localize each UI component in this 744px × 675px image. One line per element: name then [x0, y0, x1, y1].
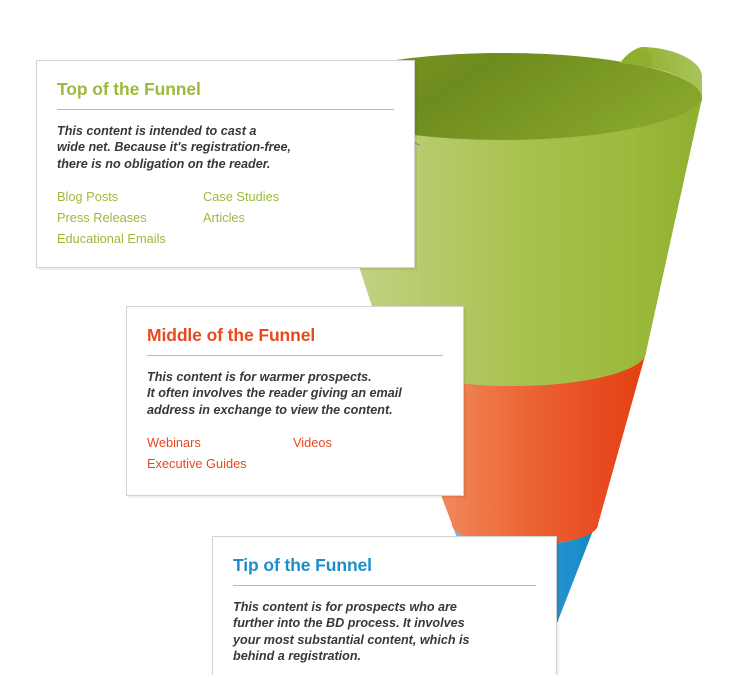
- content-tag-spacer: [203, 230, 394, 248]
- content-tag-executive-guides[interactable]: Executive Guides: [147, 455, 293, 473]
- desc-line: It often involves the reader giving an e…: [147, 385, 443, 401]
- callout-title-top: Top of the Funnel: [57, 79, 394, 100]
- content-type-list-middle: Webinars Videos Executive Guides: [147, 434, 443, 473]
- callout-card-tip-of-funnel: Tip of the Funnel This content is for pr…: [212, 536, 557, 675]
- content-tag-videos[interactable]: Videos: [293, 434, 443, 452]
- desc-line: your most substantial content, which is: [233, 632, 536, 648]
- content-tag-educational-emails[interactable]: Educational Emails: [57, 230, 203, 248]
- content-tag-blog-posts[interactable]: Blog Posts: [57, 188, 203, 206]
- callout-card-top-of-funnel: Top of the Funnel This content is intend…: [36, 60, 415, 268]
- callout-description-top: This content is intended to cast a wide …: [57, 123, 394, 172]
- callout-inner: Tip of the Funnel This content is for pr…: [213, 537, 556, 675]
- callout-description-middle: This content is for warmer prospects. It…: [147, 369, 443, 418]
- content-tag-spacer: [293, 455, 443, 473]
- content-tag-articles[interactable]: Articles: [203, 209, 394, 227]
- callout-inner: Top of the Funnel This content is intend…: [37, 61, 414, 264]
- callout-card-middle-of-funnel: Middle of the Funnel This content is for…: [126, 306, 464, 496]
- desc-line: address in exchange to view the content.: [147, 402, 443, 418]
- desc-line: This content is intended to cast a: [57, 123, 394, 139]
- infographic-canvas: Top of the Funnel This content is intend…: [0, 0, 744, 675]
- desc-line: further into the BD process. It involves: [233, 615, 536, 631]
- desc-line: there is no obligation on the reader.: [57, 156, 394, 172]
- desc-line: This content is for warmer prospects.: [147, 369, 443, 385]
- callout-divider: [57, 109, 394, 110]
- callout-divider: [233, 585, 536, 586]
- callout-title-middle: Middle of the Funnel: [147, 325, 443, 346]
- desc-line: wide net. Because it's registration-free…: [57, 139, 394, 155]
- callout-title-tip: Tip of the Funnel: [233, 555, 536, 576]
- callout-description-tip: This content is for prospects who are fu…: [233, 599, 536, 665]
- callout-divider: [147, 355, 443, 356]
- content-tag-press-releases[interactable]: Press Releases: [57, 209, 203, 227]
- desc-line: This content is for prospects who are: [233, 599, 536, 615]
- content-tag-case-studies[interactable]: Case Studies: [203, 188, 394, 206]
- content-tag-webinars[interactable]: Webinars: [147, 434, 293, 452]
- content-type-list-top: Blog Posts Case Studies Press Releases A…: [57, 188, 394, 248]
- callout-inner: Middle of the Funnel This content is for…: [127, 307, 463, 489]
- desc-line: behind a registration.: [233, 648, 536, 664]
